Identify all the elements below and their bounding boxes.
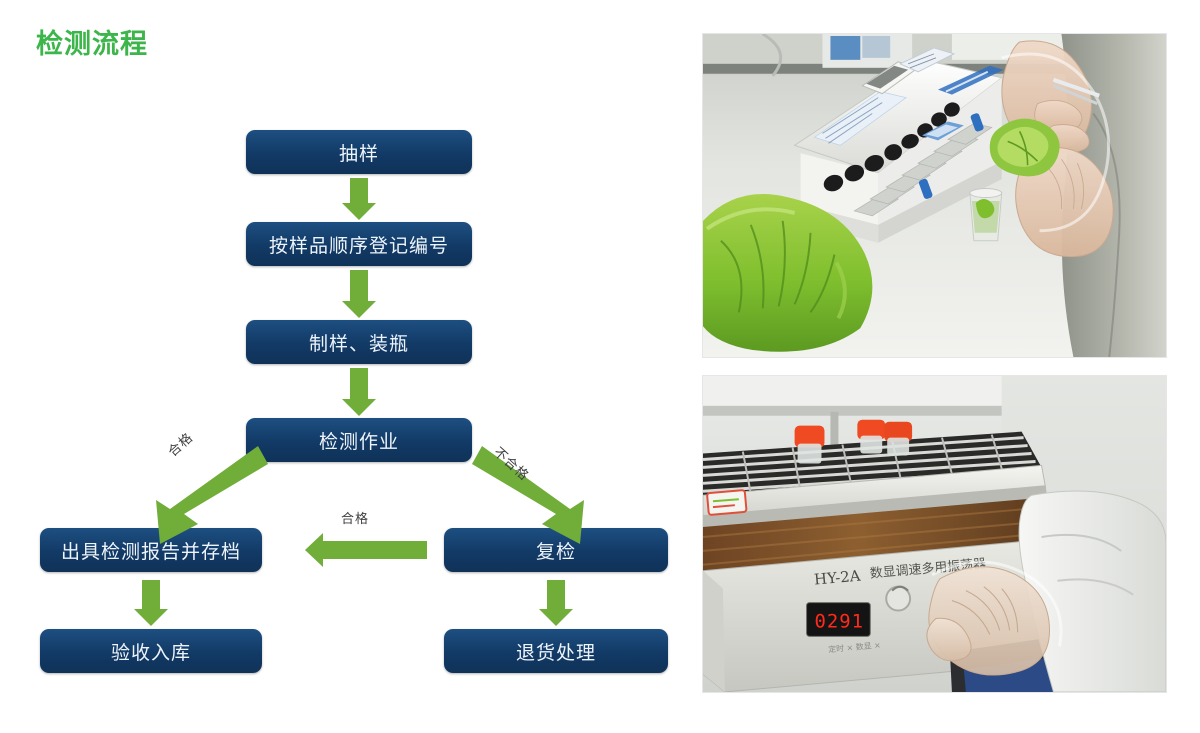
- photo-sample-preparation: 检测人员戴手套制备生菜样品，旁为白色农残速测仪: [702, 33, 1167, 358]
- arrow-shaft: [547, 580, 565, 609]
- arrow-head: [342, 203, 376, 220]
- arrow-shaft: [323, 541, 427, 559]
- led-display-value: 0291: [815, 610, 864, 632]
- arrow-shaft: [350, 270, 368, 301]
- arrow-down-icon-prepare-to-testing: [342, 368, 376, 416]
- arrow-down-icon-retest-to-return: [539, 580, 573, 626]
- arrow-down-icon-report-to-warehouse: [134, 580, 168, 626]
- flow-node-return[interactable]: 退货处理: [444, 629, 668, 673]
- arrow-left-icon-retest-to-report: [305, 533, 427, 567]
- flow-node-testing[interactable]: 检测作业: [246, 418, 472, 462]
- arrow-head: [305, 533, 323, 567]
- photo-oscillator-operation: HY-2A 数显调速多用振荡器 0291 定时 × 数显 ×: [702, 375, 1167, 693]
- arrow-shaft: [350, 178, 368, 203]
- flow-node-warehouse[interactable]: 验收入库: [40, 629, 262, 673]
- arrow-down-left-icon-testing-to-report: [140, 440, 270, 555]
- arrow-shaft: [142, 580, 160, 609]
- arrow-shaft: [350, 368, 368, 399]
- arrow-head: [539, 609, 573, 626]
- photo-oscillator-operation-image: HY-2A 数显调速多用振荡器 0291 定时 × 数显 ×: [703, 376, 1166, 692]
- arrow-down-icon-sampling-to-register: [342, 178, 376, 220]
- arrow-down-icon-register-to-prepare: [342, 270, 376, 318]
- arrow-head: [134, 609, 168, 626]
- edge-label-pass-middle: 合格: [341, 508, 369, 527]
- arrow-head: [342, 301, 376, 318]
- flow-node-prepare[interactable]: 制样、装瓶: [246, 320, 472, 364]
- flow-node-register[interactable]: 按样品顺序登记编号: [246, 222, 472, 266]
- flow-node-sampling[interactable]: 抽样: [246, 130, 472, 174]
- photo-sample-preparation-image: [703, 34, 1166, 357]
- detection-process-flowchart: 抽样 按样品顺序登记编号 制样、装瓶 检测作业 出具检测报告并存档 复检 验收入…: [0, 0, 700, 733]
- arrow-head: [342, 399, 376, 416]
- arrow-down-right-icon-testing-to-retest: [470, 440, 600, 555]
